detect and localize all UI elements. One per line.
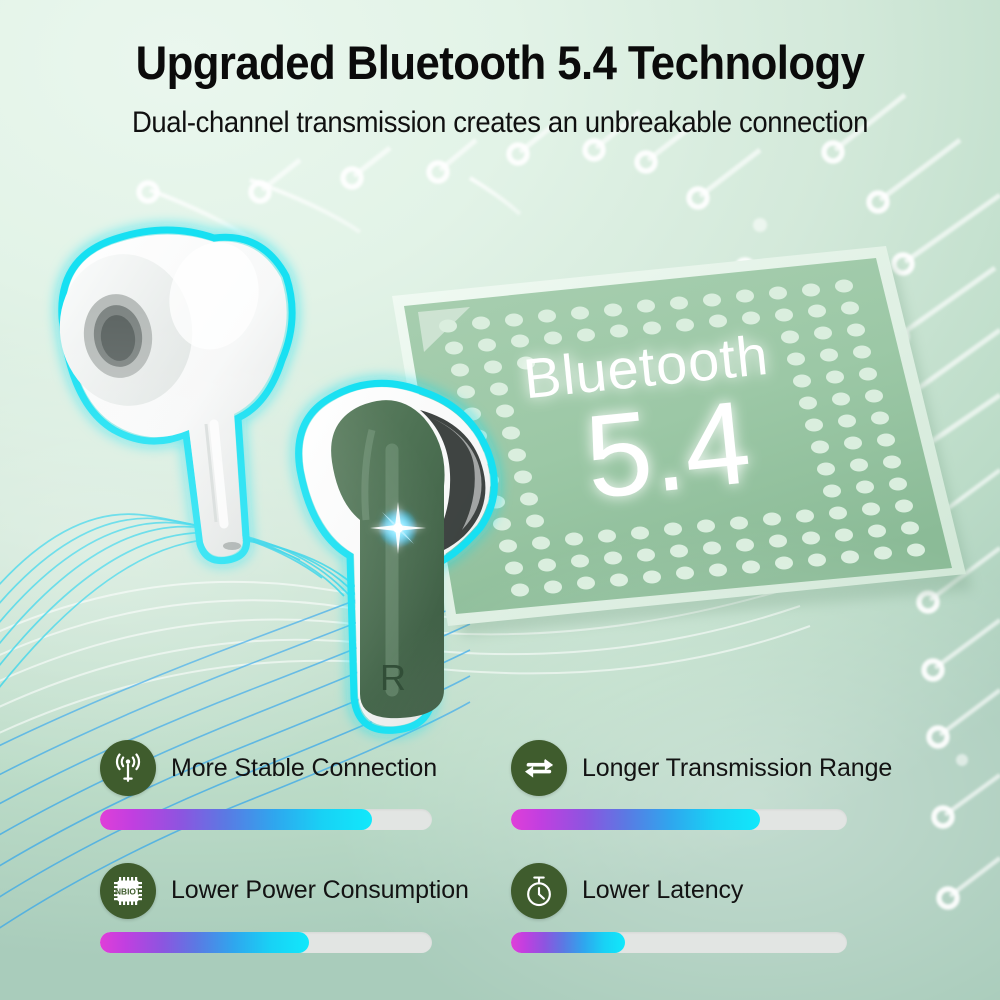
product-marketing-image: Bluetooth 5.4 [0, 0, 1000, 1000]
exchange-arrows-icon [511, 740, 567, 796]
antenna-signal-icon [100, 740, 156, 796]
feature-progress-track [100, 809, 432, 830]
page-title: Upgraded Bluetooth 5.4 Technology [35, 38, 965, 89]
page-subtitle: Dual-channel transmission creates an unb… [35, 106, 965, 140]
feature-label: Lower Power Consumption [171, 876, 469, 905]
feature-item: NBIOT Lower Power Consumption [100, 858, 489, 978]
feature-progress-fill [511, 809, 760, 830]
feature-progress-track [100, 932, 432, 953]
feature-progress-fill [100, 809, 372, 830]
feature-grid: More Stable Connection [0, 735, 1000, 980]
feature-progress-track [511, 932, 847, 953]
feature-item: More Stable Connection [100, 735, 489, 855]
feature-label: More Stable Connection [171, 754, 437, 783]
stopwatch-icon [511, 863, 567, 919]
header-block: Upgraded Bluetooth 5.4 Technology Dual-c… [0, 38, 1000, 140]
feature-item: Lower Latency [511, 858, 900, 978]
feature-progress-fill [100, 932, 309, 953]
feature-label: Longer Transmission Range [582, 754, 892, 783]
feature-progress-track [511, 809, 847, 830]
nbiot-chip-text: NBIOT [115, 886, 142, 896]
nbiot-chip-icon: NBIOT [100, 863, 156, 919]
feature-item: Longer Transmission Range [511, 735, 900, 855]
feature-progress-fill [511, 932, 625, 953]
feature-label: Lower Latency [582, 876, 743, 905]
